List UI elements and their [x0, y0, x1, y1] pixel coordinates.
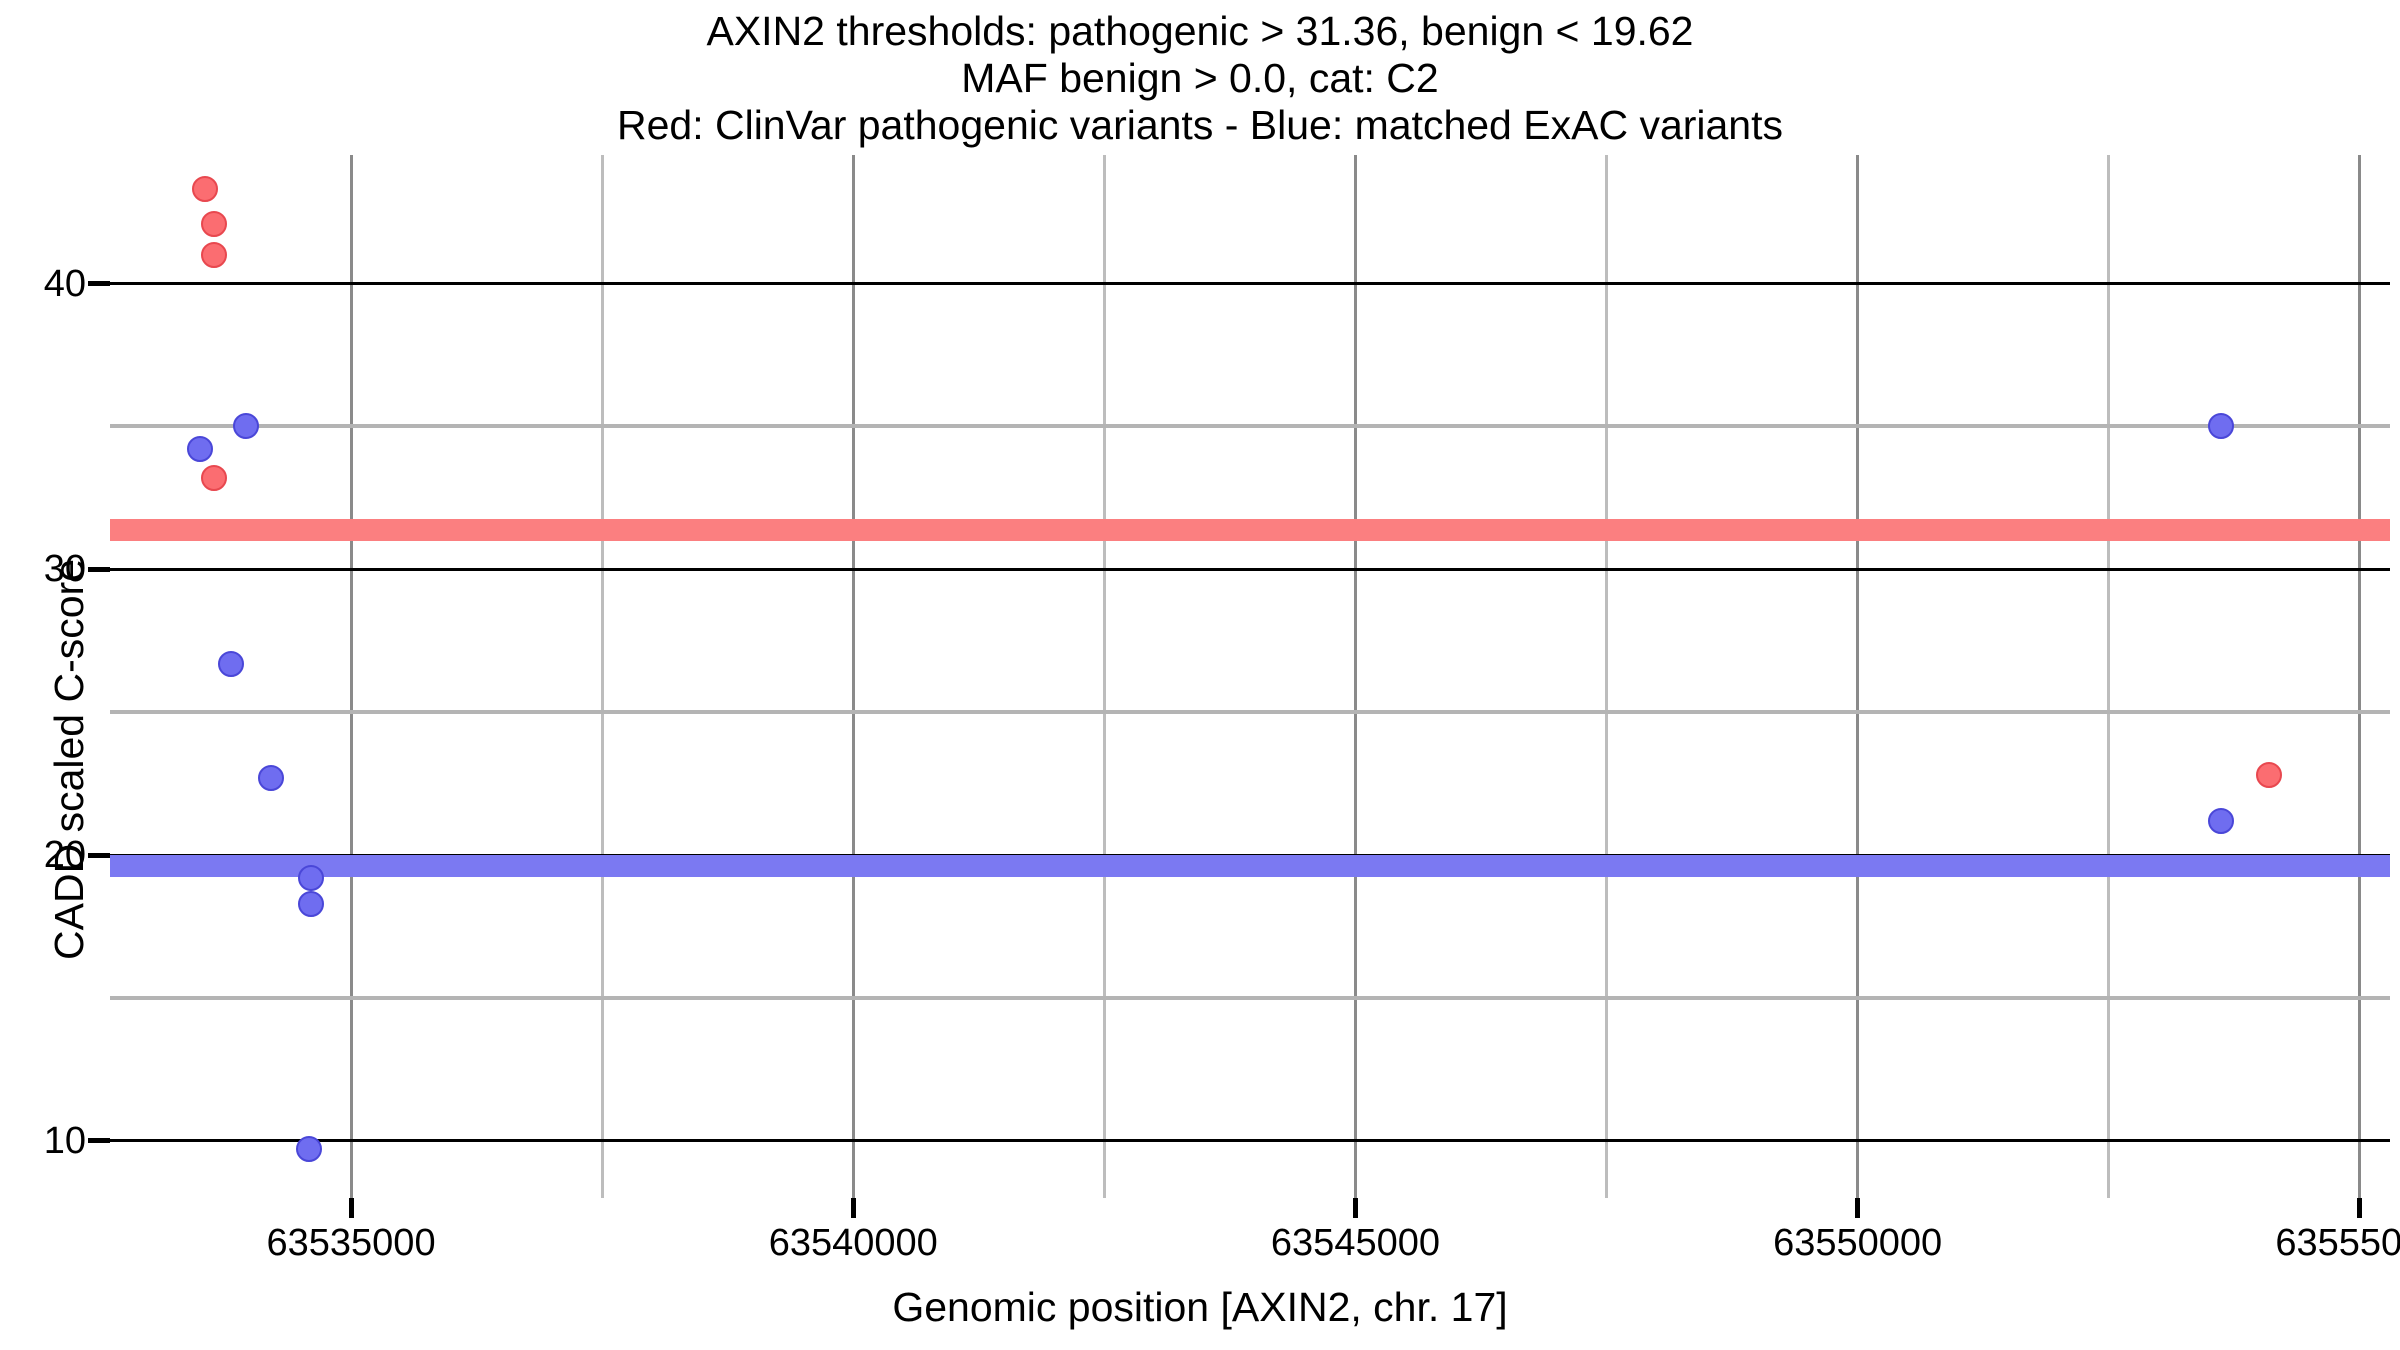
- y-axis-tick-label: 10: [44, 1122, 86, 1160]
- data-point[interactable]: [192, 176, 218, 202]
- title-line-2: MAF benign > 0.0, cat: C2: [0, 55, 2400, 102]
- y-axis-title: CADD scaled C-score: [46, 559, 93, 960]
- gridline-horizontal-minor: [110, 996, 2390, 1000]
- x-axis-tick: [1855, 1198, 1860, 1218]
- x-axis-tick-label: 63545000: [1271, 1224, 1440, 1262]
- x-axis-tick: [1353, 1198, 1358, 1218]
- gridline-vertical-major: [1856, 155, 1859, 1198]
- data-point[interactable]: [201, 465, 227, 491]
- plot-area: [110, 155, 2390, 1198]
- x-axis-tick-label: 63540000: [769, 1224, 938, 1262]
- title-line-3: Red: ClinVar pathogenic variants - Blue:…: [0, 102, 2400, 149]
- y-axis-tick-label: 40: [44, 265, 86, 303]
- gridline-vertical-minor: [2107, 155, 2110, 1198]
- x-axis-tick-label: 63535000: [267, 1224, 436, 1262]
- gridline-horizontal-minor: [110, 710, 2390, 714]
- gridline-vertical-minor: [1103, 155, 1106, 1198]
- data-point[interactable]: [201, 242, 227, 268]
- gridline-vertical-minor: [601, 155, 604, 1198]
- data-point[interactable]: [258, 765, 284, 791]
- data-point[interactable]: [2256, 762, 2282, 788]
- data-point[interactable]: [2208, 808, 2234, 834]
- gridline-vertical-major: [1354, 155, 1357, 1198]
- y-axis-tick: [88, 567, 110, 572]
- gridline-horizontal-minor: [110, 424, 2390, 428]
- data-point[interactable]: [2208, 413, 2234, 439]
- data-point[interactable]: [201, 211, 227, 237]
- gridline-vertical-major: [2358, 155, 2361, 1198]
- x-axis-tick: [851, 1198, 856, 1218]
- data-point[interactable]: [298, 891, 324, 917]
- gridline-vertical-major: [350, 155, 353, 1198]
- data-point[interactable]: [187, 436, 213, 462]
- x-axis-tick-label: 63555000: [2275, 1224, 2400, 1262]
- gridline-horizontal-major: [110, 568, 2390, 571]
- gridline-vertical-minor: [1605, 155, 1608, 1198]
- x-axis-tick: [349, 1198, 354, 1218]
- title-line-1: AXIN2 thresholds: pathogenic > 31.36, be…: [0, 8, 2400, 55]
- y-axis-tick-label: 20: [44, 836, 86, 874]
- y-axis-tick: [88, 281, 110, 286]
- x-axis-tick-label: 63550000: [1773, 1224, 1942, 1262]
- threshold-line-pathogenic: [110, 519, 2390, 541]
- gridline-horizontal-major: [110, 282, 2390, 285]
- y-axis-tick: [88, 1138, 110, 1143]
- x-axis-title: Genomic position [AXIN2, chr. 17]: [0, 1284, 2400, 1331]
- data-point[interactable]: [296, 1136, 322, 1162]
- gridline-horizontal-major: [110, 1139, 2390, 1142]
- y-axis-tick-label: 30: [44, 550, 86, 588]
- x-axis-tick: [2357, 1198, 2362, 1218]
- chart-root: AXIN2 thresholds: pathogenic > 31.36, be…: [0, 0, 2400, 1350]
- threshold-line-benign: [110, 855, 2390, 877]
- y-axis-tick: [88, 853, 110, 858]
- chart-title: AXIN2 thresholds: pathogenic > 31.36, be…: [0, 8, 2400, 149]
- data-point[interactable]: [298, 865, 324, 891]
- data-point[interactable]: [233, 413, 259, 439]
- data-point[interactable]: [218, 651, 244, 677]
- gridline-vertical-major: [852, 155, 855, 1198]
